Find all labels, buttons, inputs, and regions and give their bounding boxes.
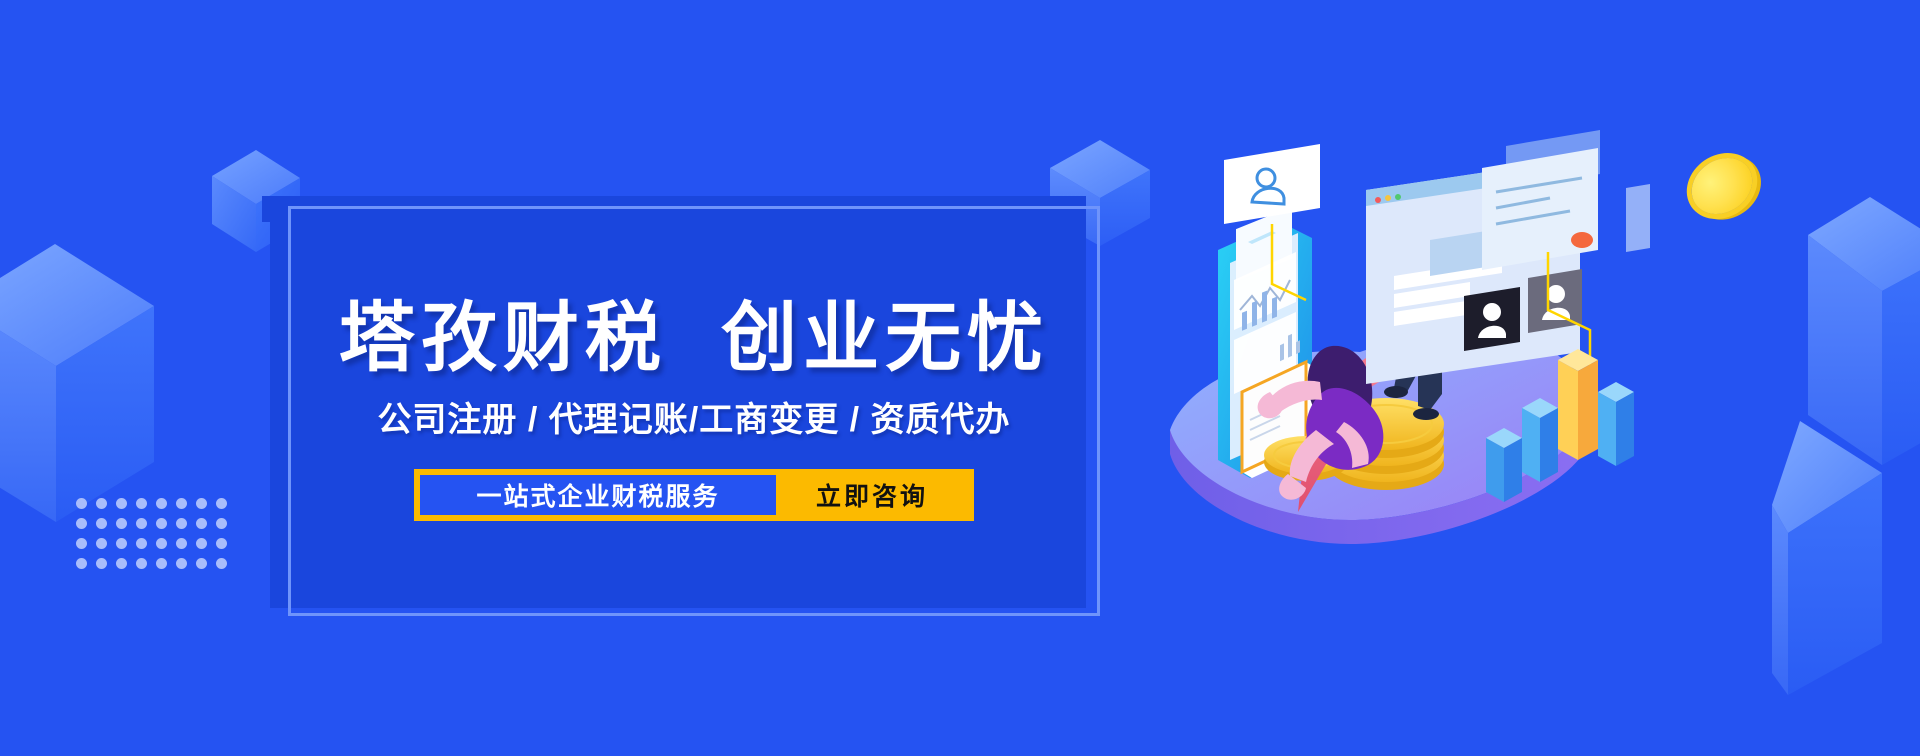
isometric-tower-left bbox=[0, 222, 158, 522]
line-chart-card bbox=[1626, 184, 1650, 252]
isometric-business-illustration bbox=[1130, 130, 1650, 560]
isometric-tower-right-upper bbox=[1808, 165, 1920, 465]
page-title: 塔孜财税 创业无忧 bbox=[339, 301, 1049, 377]
isometric-tower-right-lower bbox=[1772, 395, 1920, 695]
credit-card bbox=[1482, 130, 1600, 270]
profile-card bbox=[1224, 144, 1320, 224]
promo-banner: 塔孜财税 创业无忧 公司注册 / 代理记账/工商变更 / 资质代办 一站式企业财… bbox=[0, 0, 1920, 756]
cta-bar: 一站式企业财税服务 立即咨询 bbox=[414, 469, 974, 521]
service-list-subtitle: 公司注册 / 代理记账/工商变更 / 资质代办 bbox=[377, 403, 1010, 437]
banner-text-block: 塔孜财税 创业无忧 公司注册 / 代理记账/工商变更 / 资质代办 一站式企业财… bbox=[288, 206, 1100, 616]
coin-icon-top-right bbox=[1681, 147, 1763, 226]
consult-now-button[interactable]: 立即咨询 bbox=[776, 475, 968, 515]
cta-tagline: 一站式企业财税服务 bbox=[420, 475, 776, 515]
dot-grid-pattern bbox=[76, 498, 236, 578]
